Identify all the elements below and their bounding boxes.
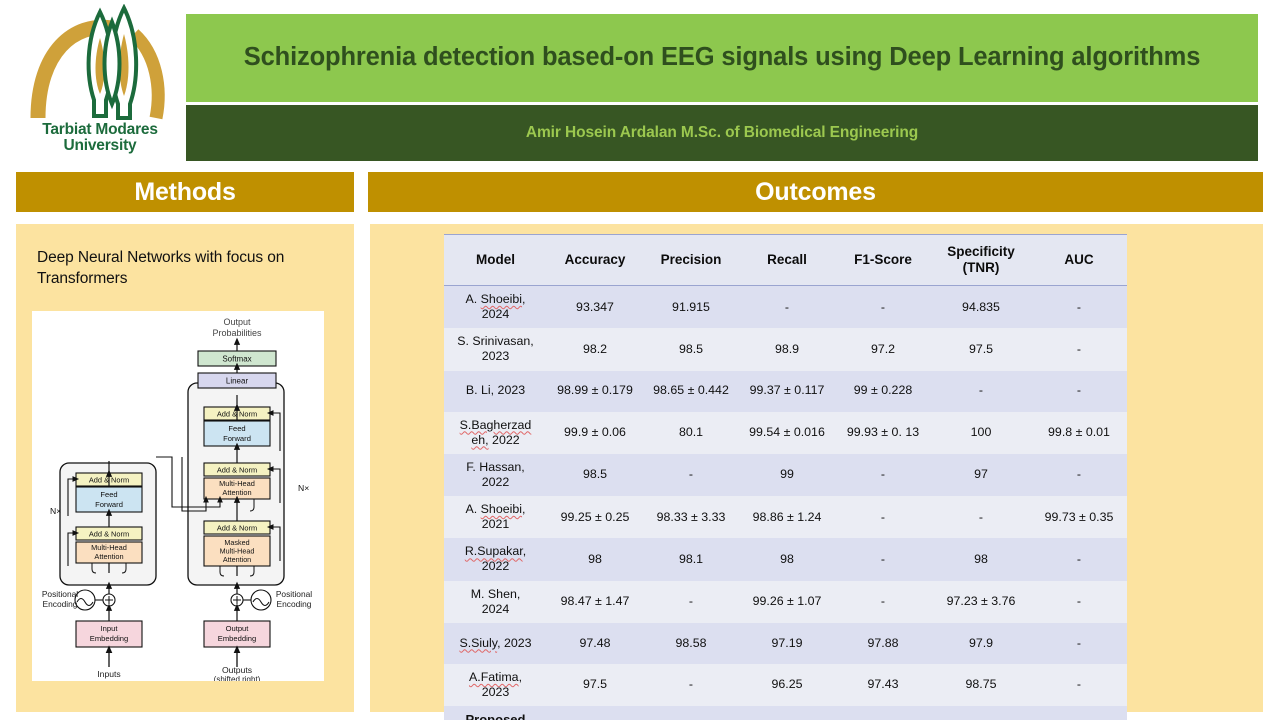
cell-auc: - — [1031, 581, 1127, 623]
model-name-line-2: 2024 — [482, 307, 510, 321]
cell-recall: 99.26 ± 1.07 — [739, 581, 835, 623]
output-probabilities-l2: Probabilities — [212, 328, 262, 338]
pos-enc-left-l2: Encoding — [43, 599, 78, 609]
cell-recall: 99 — [739, 454, 835, 496]
model-name-line-1: S.Bagherzad — [460, 418, 532, 432]
cell-f1score: 99.6 — [835, 706, 931, 720]
linear-block: Linear — [226, 377, 249, 386]
dec-addnorm-2: Add & Norm — [217, 466, 257, 475]
cell-accuracy: 97.5 — [547, 664, 643, 706]
cell-accuracy: 98.2 — [547, 328, 643, 370]
output-embedding-l1: Output — [226, 624, 250, 633]
cell-precision: - — [643, 664, 739, 706]
cell-accuracy: 99.25 ± 0.25 — [547, 496, 643, 538]
cell-recall: 96.25 — [739, 664, 835, 706]
cell-precision: 98.33 ± 3.33 — [643, 496, 739, 538]
results-table: Model Accuracy Precision Recall F1-Score… — [444, 234, 1127, 720]
col-header-f1score: F1-Score — [835, 235, 931, 286]
cell-precision: - — [643, 581, 739, 623]
cell-recall: 98.86 ± 1.24 — [739, 496, 835, 538]
section-banner-outcomes: Outcomes — [368, 172, 1263, 212]
cell-auc: - — [1031, 371, 1127, 412]
cell-model: M. Shen,2024 — [444, 581, 547, 623]
table-row: B. Li, 202398.99 ± 0.17998.65 ± 0.44299.… — [444, 371, 1127, 412]
table-row: S. Srinivasan,202398.298.598.997.297.5- — [444, 328, 1127, 370]
cell-model: A.Fatima,2023 — [444, 664, 547, 706]
dec-mha-l1: Multi-Head — [219, 479, 255, 488]
decoder-nx-label: N× — [298, 483, 309, 493]
dec-mha-l2: Attention — [222, 488, 251, 497]
logo-line-2: University — [16, 138, 184, 154]
section-banner-methods: Methods — [16, 172, 354, 212]
cell-auc: - — [1031, 328, 1127, 370]
cell-specificity: - — [931, 371, 1031, 412]
cell-model: F. Hassan,2022 — [444, 454, 547, 496]
dec-masked-l3: Attention — [223, 555, 251, 564]
model-name-line-2: 2024 — [482, 602, 510, 616]
enc-mha-l1: Multi-Head — [91, 543, 127, 552]
poster-author-band: Amir Hosein Ardalan M.Sc. of Biomedical … — [186, 105, 1258, 161]
cell-f1score: 97.43 — [835, 664, 931, 706]
model-name-line-2: eh, 2022 — [471, 433, 519, 447]
outcomes-banner-label: Outcomes — [755, 178, 876, 207]
output-embedding-l2: Embedding — [218, 634, 256, 643]
model-name-line-1: F. Hassan, — [466, 460, 525, 474]
dec-ff-l2: Forward — [223, 434, 251, 443]
encoder-nx-label: N× — [50, 506, 61, 516]
cell-f1score: 97.88 — [835, 623, 931, 664]
results-table-container: Model Accuracy Precision Recall F1-Score… — [444, 234, 1127, 702]
table-row: S.Bagherzadeh, 202299.9 ± 0.0680.199.54 … — [444, 412, 1127, 454]
table-body: A. Shoeibi,202493.34791.915--94.835-S. S… — [444, 286, 1127, 720]
pos-enc-right-l1: Positional — [276, 589, 312, 599]
enc-ff-l1: Feed — [100, 490, 117, 499]
cell-accuracy: 93.347 — [547, 286, 643, 329]
outputs-label-l1: Outputs — [222, 665, 252, 675]
page-title: Schizophrenia detection based-on EEG sig… — [230, 43, 1215, 72]
cell-specificity: 97.23 ± 3.76 — [931, 581, 1031, 623]
enc-ff-l2: Forward — [95, 500, 123, 509]
cell-model: B. Li, 2023 — [444, 371, 547, 412]
cell-f1score: - — [835, 581, 931, 623]
cell-accuracy: 99.9 ± 0.06 — [547, 412, 643, 454]
outcomes-panel: Model Accuracy Precision Recall F1-Score… — [370, 224, 1263, 712]
dec-addnorm-1: Add & Norm — [217, 524, 257, 533]
specificity-line-2: (TNR) — [963, 260, 1000, 275]
poster-title-band: Schizophrenia detection based-on EEG sig… — [186, 14, 1258, 102]
cell-accuracy: 98.47 ± 1.47 — [547, 581, 643, 623]
logo-line-1: Tarbiat Modares — [16, 122, 184, 138]
model-name-line-1: B. Li, 2023 — [466, 383, 525, 397]
cell-f1score: - — [835, 496, 931, 538]
cell-model: S. Srinivasan,2023 — [444, 328, 547, 370]
cell-model: A. Shoeibi,2024 — [444, 286, 547, 329]
table-row: A. Shoeibi,202199.25 ± 0.2598.33 ± 3.339… — [444, 496, 1127, 538]
cell-auc: - — [1031, 664, 1127, 706]
cell-specificity: - — [931, 496, 1031, 538]
softmax-block: Softmax — [222, 355, 251, 364]
model-name-line-1: A. Shoeibi, — [466, 502, 526, 516]
table-row: S.Siuly, 202397.4898.5897.1997.8897.9- — [444, 623, 1127, 664]
author-subtitle: Amir Hosein Ardalan M.Sc. of Biomedical … — [526, 124, 918, 142]
cell-accuracy: 98.99 ± 0.179 — [547, 371, 643, 412]
col-header-precision: Precision — [643, 235, 739, 286]
model-name-line-2: 2023 — [482, 349, 510, 363]
cell-precision: 80.1 — [643, 412, 739, 454]
specificity-line-1: Specificity — [947, 244, 1015, 259]
input-embedding-l2: Embedding — [90, 634, 128, 643]
output-probabilities-l1: Output — [223, 317, 251, 327]
cell-recall: 98 — [739, 538, 835, 580]
poster-canvas: Tarbiat Modares University Schizophrenia… — [0, 0, 1280, 720]
col-header-auc: AUC — [1031, 235, 1127, 286]
model-name-line-1: S. Srinivasan, — [457, 334, 533, 348]
table-row: ProposedModel99.599.799.499.699.799.5 — [444, 706, 1127, 720]
table-row: R.Supakar,20229898.198-98- — [444, 538, 1127, 580]
cell-specificity: 97.9 — [931, 623, 1031, 664]
transformer-diagram-frame: Multi-Head Attention Add & Norm Feed For… — [32, 311, 324, 681]
model-name-line-1: A. Shoeibi, — [466, 292, 526, 306]
cell-auc: - — [1031, 286, 1127, 329]
cell-specificity: 97 — [931, 454, 1031, 496]
model-name-line-2: 2022 — [482, 559, 510, 573]
cell-auc: 99.8 ± 0.01 — [1031, 412, 1127, 454]
cell-precision: 98.58 — [643, 623, 739, 664]
pos-enc-left-l1: Positional — [42, 589, 78, 599]
inputs-label: Inputs — [97, 669, 120, 679]
cell-specificity: 99.7 — [931, 706, 1031, 720]
cell-f1score: - — [835, 286, 931, 329]
cell-auc: - — [1031, 623, 1127, 664]
model-name-line-1: R.Supakar, — [465, 544, 526, 558]
methods-caption: Deep Neural Networks with focus on Trans… — [37, 247, 337, 290]
cell-auc: 99.5 — [1031, 706, 1127, 720]
input-embedding-l1: Input — [101, 624, 119, 633]
table-header-row: Model Accuracy Precision Recall F1-Score… — [444, 235, 1127, 286]
enc-addnorm-1: Add & Norm — [89, 530, 129, 539]
model-name-line-1: S.Siuly, 2023 — [459, 636, 531, 650]
cell-specificity: 94.835 — [931, 286, 1031, 329]
cell-specificity: 97.5 — [931, 328, 1031, 370]
cell-accuracy: 99.5 — [547, 706, 643, 720]
cell-specificity: 98 — [931, 538, 1031, 580]
cell-precision: 99.7 — [643, 706, 739, 720]
model-name-line-1: M. Shen, — [471, 587, 521, 601]
enc-mha-l2: Attention — [94, 552, 123, 561]
cell-specificity: 98.75 — [931, 664, 1031, 706]
cell-recall: 99.37 ± 0.117 — [739, 371, 835, 412]
table-row: A.Fatima,202397.5-96.2597.4398.75- — [444, 664, 1127, 706]
cell-f1score: 97.2 — [835, 328, 931, 370]
outputs-label-l2: (shifted right) — [214, 675, 261, 681]
cell-accuracy: 98 — [547, 538, 643, 580]
cell-f1score: 99 ± 0.228 — [835, 371, 931, 412]
cell-auc: 99.73 ± 0.35 — [1031, 496, 1127, 538]
dec-ff-l1: Feed — [228, 424, 245, 433]
cell-recall: 99.54 ± 0.016 — [739, 412, 835, 454]
cell-model: A. Shoeibi,2021 — [444, 496, 547, 538]
model-name-line-1: A.Fatima, — [469, 670, 522, 684]
table-row: A. Shoeibi,202493.34791.915--94.835- — [444, 286, 1127, 329]
col-header-recall: Recall — [739, 235, 835, 286]
table-row: F. Hassan,202298.5-99-97- — [444, 454, 1127, 496]
cell-precision: 91.915 — [643, 286, 739, 329]
cell-specificity: 100 — [931, 412, 1031, 454]
methods-panel: Deep Neural Networks with focus on Trans… — [16, 224, 354, 712]
transformer-architecture-diagram: Multi-Head Attention Add & Norm Feed For… — [32, 311, 324, 681]
cell-model: R.Supakar,2022 — [444, 538, 547, 580]
cell-auc: - — [1031, 538, 1127, 580]
cell-f1score: - — [835, 454, 931, 496]
cell-auc: - — [1031, 454, 1127, 496]
cell-precision: - — [643, 454, 739, 496]
cell-recall: 98.9 — [739, 328, 835, 370]
cell-recall: 97.19 — [739, 623, 835, 664]
cell-model: S.Siuly, 2023 — [444, 623, 547, 664]
cell-f1score: 99.93 ± 0. 13 — [835, 412, 931, 454]
logo-mark-icon — [16, 4, 184, 124]
col-header-specificity: Specificity (TNR) — [931, 235, 1031, 286]
col-header-model: Model — [444, 235, 547, 286]
university-logo: Tarbiat Modares University — [16, 4, 184, 164]
cell-accuracy: 97.48 — [547, 623, 643, 664]
cell-precision: 98.1 — [643, 538, 739, 580]
logo-text: Tarbiat Modares University — [16, 122, 184, 155]
cell-accuracy: 98.5 — [547, 454, 643, 496]
model-name-line-1: Proposed — [466, 712, 526, 720]
cell-recall: 99.4 — [739, 706, 835, 720]
col-header-accuracy: Accuracy — [547, 235, 643, 286]
model-name-line-2: 2023 — [482, 685, 510, 699]
cell-f1score: - — [835, 538, 931, 580]
methods-banner-label: Methods — [134, 178, 235, 207]
model-name-line-2: 2021 — [482, 517, 510, 531]
model-name-line-2: 2022 — [482, 475, 510, 489]
table-row: M. Shen,202498.47 ± 1.47-99.26 ± 1.07-97… — [444, 581, 1127, 623]
cell-model: ProposedModel — [444, 706, 547, 720]
cell-precision: 98.65 ± 0.442 — [643, 371, 739, 412]
cell-precision: 98.5 — [643, 328, 739, 370]
pos-enc-right-l2: Encoding — [277, 599, 312, 609]
cell-recall: - — [739, 286, 835, 329]
cell-model: S.Bagherzadeh, 2022 — [444, 412, 547, 454]
